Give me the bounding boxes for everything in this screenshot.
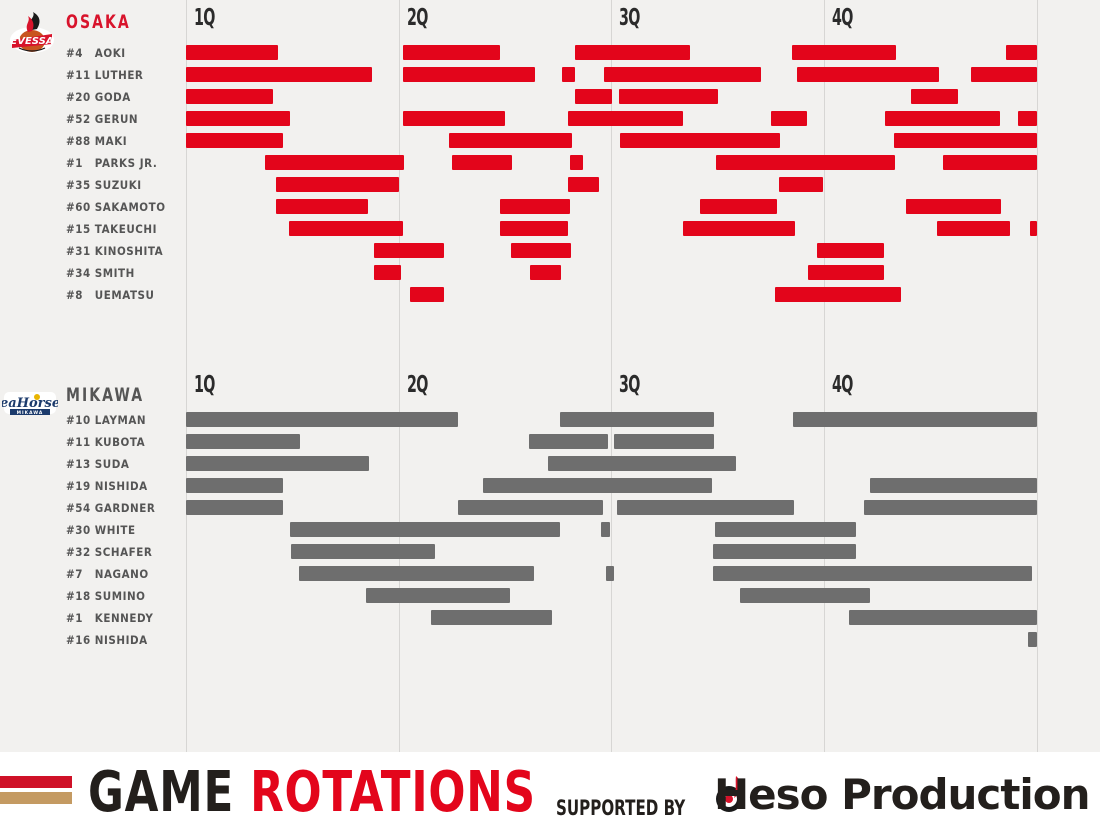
rotation-row	[186, 497, 1037, 519]
rotation-row	[186, 563, 1037, 585]
svg-text:SeaHorses: SeaHorses	[2, 396, 58, 411]
rotation-bar	[864, 500, 1037, 515]
sponsor-name: Heso Production	[714, 770, 1090, 819]
player-row: #8UEMATSU	[66, 284, 174, 306]
player-number: #1	[66, 607, 95, 629]
rotation-bar	[614, 434, 714, 449]
rotation-bar	[291, 544, 435, 559]
player-number: #19	[66, 475, 95, 497]
player-name: SCHAFER	[95, 545, 153, 559]
rotation-bar	[276, 199, 368, 214]
svg-text:MIKAWA: MIKAWA	[17, 410, 44, 416]
stripe-tan	[0, 792, 72, 804]
rotation-bar	[186, 67, 372, 82]
rotation-bar	[374, 243, 444, 258]
rotation-bar	[511, 243, 571, 258]
rotation-bar	[483, 478, 712, 493]
player-name: LUTHER	[95, 68, 144, 82]
rotation-bar	[568, 111, 683, 126]
player-name: PARKS JR.	[95, 156, 158, 170]
rotation-bar	[562, 67, 575, 82]
rotation-bar	[604, 67, 761, 82]
rotation-bar	[575, 89, 612, 104]
player-number: #13	[66, 453, 95, 475]
rotation-bar	[617, 500, 794, 515]
rotation-bar	[403, 45, 500, 60]
rotation-bar	[575, 45, 690, 60]
rotation-bar	[186, 478, 283, 493]
rotation-bar	[186, 500, 283, 515]
rotation-bar	[186, 89, 273, 104]
player-name: GERUN	[95, 112, 138, 126]
rotation-row	[186, 130, 1037, 152]
svg-text:EVESSA: EVESSA	[10, 36, 53, 47]
rotation-row	[186, 240, 1037, 262]
player-number: #4	[66, 42, 95, 64]
rotation-bar	[817, 243, 884, 258]
player-name: KENNEDY	[95, 611, 154, 625]
player-name: TAKEUCHI	[95, 222, 157, 236]
player-number: #10	[66, 409, 95, 431]
rotation-bar	[911, 89, 958, 104]
rotation-bar	[713, 544, 856, 559]
player-row: #32SCHAFER	[66, 541, 174, 563]
rotation-bar	[700, 199, 777, 214]
player-name: SUMINO	[95, 589, 146, 603]
end-gridline	[1037, 0, 1038, 752]
supported-by-label: SUPPORTED BY	[556, 796, 685, 820]
rotation-bar	[808, 265, 884, 280]
rotation-bar	[906, 199, 1001, 214]
quarter-label-mikawa-4q: 4Q	[832, 372, 853, 398]
rotation-row	[186, 475, 1037, 497]
rotation-bar	[290, 522, 560, 537]
footer: GAME ROTATIONS SUPPORTED BY Heso Product…	[0, 752, 1100, 830]
rotation-bar	[740, 588, 870, 603]
player-name: AOKI	[95, 46, 126, 60]
rotation-row	[186, 284, 1037, 306]
rotation-bar	[683, 221, 795, 236]
player-name: LAYMAN	[95, 413, 146, 427]
player-row: #13SUDA	[66, 453, 174, 475]
rotation-bar	[186, 456, 369, 471]
rotation-bar	[289, 221, 403, 236]
rotation-bar	[601, 522, 610, 537]
player-name: NAGANO	[95, 567, 149, 581]
rotation-row	[186, 42, 1037, 64]
rotation-row	[186, 519, 1037, 541]
player-number: #54	[66, 497, 95, 519]
player-row: #34SMITH	[66, 262, 174, 284]
rotation-bar	[771, 111, 807, 126]
rotation-bar	[299, 566, 534, 581]
rotation-bar	[971, 67, 1037, 82]
player-name: NISHIDA	[95, 479, 148, 493]
footer-title-word2: ROTATIONS	[250, 760, 536, 825]
rotation-bar	[849, 610, 1037, 625]
player-name: SUZUKI	[95, 178, 142, 192]
rotation-bar	[374, 265, 401, 280]
rotation-bar	[894, 133, 1037, 148]
player-number: #88	[66, 130, 95, 152]
player-number: #1	[66, 152, 95, 174]
rotation-bar	[186, 111, 290, 126]
player-number: #18	[66, 585, 95, 607]
rotation-bar	[276, 177, 399, 192]
rotation-bar	[560, 412, 714, 427]
player-row: #10LAYMAN	[66, 409, 174, 431]
rotation-bar	[715, 522, 856, 537]
player-name: UEMATSU	[95, 288, 155, 302]
rotation-bar	[716, 155, 895, 170]
player-row: #54GARDNER	[66, 497, 174, 519]
quarter-label-mikawa-1q: 1Q	[194, 372, 215, 398]
seahorses-mikawa-logo: SeaHorses MIKAWA	[2, 384, 58, 430]
quarter-label-2q: 2Q	[407, 5, 428, 31]
player-row: #1PARKS JR.	[66, 152, 174, 174]
player-name: SMITH	[95, 266, 135, 280]
rotation-bar	[449, 133, 572, 148]
rotation-bar	[779, 177, 823, 192]
rotation-bar	[403, 67, 535, 82]
quarter-label-mikawa-3q: 3Q	[619, 372, 640, 398]
rotation-bar	[403, 111, 505, 126]
player-name: SUDA	[95, 457, 130, 471]
rotation-board: EVESSA OSAKA #4AOKI#11LUTHER#20GODA#52GE…	[0, 0, 1100, 752]
rotation-row	[186, 152, 1037, 174]
rotation-bar	[366, 588, 510, 603]
rotation-row	[186, 108, 1037, 130]
player-number: #20	[66, 86, 95, 108]
quarter-label-4q: 4Q	[832, 5, 853, 31]
rotation-bar	[943, 155, 1037, 170]
footer-title: GAME ROTATIONS	[88, 760, 536, 825]
rotation-bar	[606, 566, 614, 581]
rotation-bar	[570, 155, 583, 170]
player-row: #1KENNEDY	[66, 607, 174, 629]
rotation-row	[186, 585, 1037, 607]
rotation-bar	[1028, 632, 1037, 647]
rotation-bar	[775, 287, 901, 302]
rotation-timeline-plot: 1Q1Q2Q2Q3Q3Q4Q4Q	[186, 0, 1037, 752]
player-number: #15	[66, 218, 95, 240]
player-name: GODA	[95, 90, 131, 104]
stripe-red	[0, 776, 72, 788]
osaka-roster: #4AOKI#11LUTHER#20GODA#52GERUN#88MAKI#1P…	[66, 42, 186, 306]
rotation-bar	[1006, 45, 1037, 60]
rotation-row	[186, 541, 1037, 563]
player-row: #52GERUN	[66, 108, 174, 130]
player-number: #35	[66, 174, 95, 196]
rotation-bar	[265, 155, 404, 170]
player-number: #31	[66, 240, 95, 262]
player-number: #30	[66, 519, 95, 541]
player-row: #19NISHIDA	[66, 475, 174, 497]
rotation-bar	[568, 177, 599, 192]
osaka-evessa-logo: EVESSA	[6, 10, 62, 56]
player-row: #31KINOSHITA	[66, 240, 174, 262]
quarter-label-mikawa-2q: 2Q	[407, 372, 428, 398]
rotation-bar	[186, 45, 278, 60]
player-name: GARDNER	[95, 501, 156, 515]
rotation-bar	[529, 434, 608, 449]
rotation-row	[186, 218, 1037, 240]
rotation-row	[186, 174, 1037, 196]
player-number: #11	[66, 431, 95, 453]
rotation-bar	[500, 221, 568, 236]
player-row: #18SUMINO	[66, 585, 174, 607]
player-number: #8	[66, 284, 95, 306]
rotation-bar	[870, 478, 1037, 493]
player-row: #11LUTHER	[66, 64, 174, 86]
rotation-bar	[619, 89, 718, 104]
rotation-bar	[1030, 221, 1037, 236]
rotation-row	[186, 409, 1037, 431]
player-row: #20GODA	[66, 86, 174, 108]
player-number: #11	[66, 64, 95, 86]
player-number: #52	[66, 108, 95, 130]
player-name: KINOSHITA	[95, 244, 163, 258]
player-number: #16	[66, 629, 95, 651]
rotation-bar	[792, 45, 896, 60]
player-name: NISHIDA	[95, 633, 148, 647]
osaka-team-name: OSAKA	[66, 11, 131, 33]
rotation-bar	[452, 155, 512, 170]
player-name: SAKAMOTO	[95, 200, 166, 214]
rotation-bar	[885, 111, 1000, 126]
rotation-bar	[431, 610, 552, 625]
rotation-bar	[937, 221, 1010, 236]
player-name: KUBOTA	[95, 435, 145, 449]
rotation-row	[186, 64, 1037, 86]
player-number: #7	[66, 563, 95, 585]
rotation-bar	[548, 456, 736, 471]
rotation-row	[186, 196, 1037, 218]
player-row: #35SUZUKI	[66, 174, 174, 196]
rotation-bar	[500, 199, 570, 214]
quarter-label-3q: 3Q	[619, 5, 640, 31]
player-row: #16NISHIDA	[66, 629, 174, 651]
rotation-row	[186, 629, 1037, 651]
rotation-bar	[793, 412, 1037, 427]
rotation-bar	[530, 265, 561, 280]
player-row: #15TAKEUCHI	[66, 218, 174, 240]
rotation-bar	[713, 566, 1032, 581]
rotation-bar	[186, 133, 283, 148]
player-row: #4AOKI	[66, 42, 174, 64]
rotation-row	[186, 453, 1037, 475]
rotation-row	[186, 431, 1037, 453]
player-row: #88MAKI	[66, 130, 174, 152]
mikawa-team-name: MIKAWA	[66, 384, 144, 406]
player-row: #7NAGANO	[66, 563, 174, 585]
player-row: #11KUBOTA	[66, 431, 174, 453]
player-name: MAKI	[95, 134, 127, 148]
player-number: #32	[66, 541, 95, 563]
rotation-bar	[620, 133, 780, 148]
rotation-row	[186, 607, 1037, 629]
rotation-bar	[410, 287, 444, 302]
quarter-label-1q: 1Q	[194, 5, 215, 31]
rotation-bar	[458, 500, 603, 515]
player-row: #60SAKAMOTO	[66, 196, 174, 218]
rotation-row	[186, 86, 1037, 108]
footer-stripes	[0, 776, 72, 804]
rotation-row	[186, 262, 1037, 284]
rotation-bar	[186, 434, 300, 449]
rotation-bar	[1018, 111, 1037, 126]
player-number: #60	[66, 196, 95, 218]
footer-title-word1: GAME	[88, 760, 234, 825]
player-number: #34	[66, 262, 95, 284]
player-name: WHITE	[95, 523, 136, 537]
rotation-bar	[186, 412, 458, 427]
rotation-bar	[797, 67, 939, 82]
mikawa-roster: #10LAYMAN#11KUBOTA#13SUDA#19NISHIDA#54GA…	[66, 409, 186, 651]
player-row: #30WHITE	[66, 519, 174, 541]
